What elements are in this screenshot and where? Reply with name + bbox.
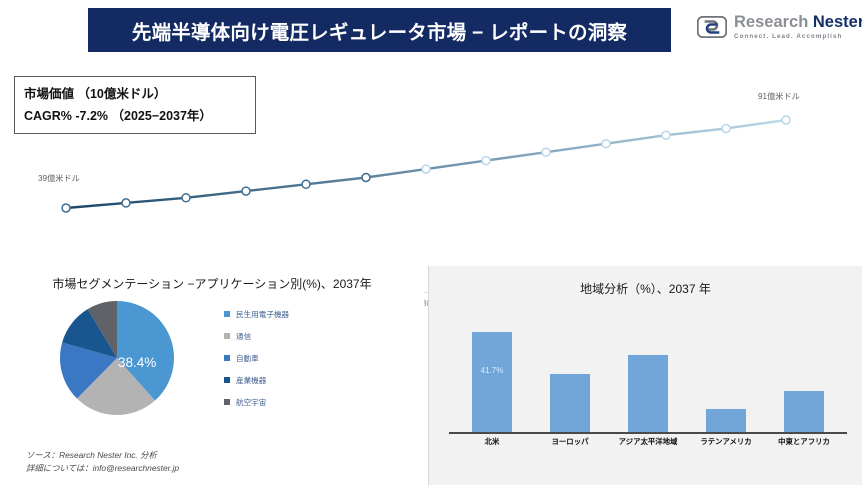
line-marker: [422, 165, 430, 173]
bar: 41.7%: [472, 332, 512, 432]
infographic-page: 先端半導体向け電圧レギュレータ市場 − レポートの洞察 Research Nes…: [0, 0, 862, 485]
line-marker: [62, 204, 70, 212]
market-value-line-chart: 39億米ドル 91億米ドル 2024年2025年2026年2027年2028年2…: [0, 60, 862, 260]
legend-label: 自動車: [236, 353, 259, 364]
region-label: 北米: [485, 436, 500, 447]
legend-label: 通信: [236, 331, 251, 342]
line-marker: [122, 199, 130, 207]
brand-logo: Research Nester Connect. Lead. Accomplis…: [697, 14, 862, 40]
line-end-value-label: 91億米ドル: [758, 90, 800, 102]
legend-item: 通信: [224, 325, 354, 347]
region-label: 中東とアフリカ: [778, 436, 830, 447]
region-label: アジア太平洋地域: [619, 436, 678, 447]
regional-analysis-panel: 地域分析（%）、2037 年 41.7% 北米ヨーロッパアジア太平洋地域ラテンア…: [428, 266, 862, 485]
legend-item: 航空宇宙: [224, 391, 354, 413]
bar: [550, 374, 590, 432]
bar: [784, 391, 824, 432]
line-marker: [482, 157, 490, 165]
logo-name: Research Nester: [734, 14, 862, 31]
pie-legend: 民生用電子機器通信自動車産業機器航空宇宙: [224, 303, 354, 413]
bar-column: 41.7%: [472, 332, 512, 432]
segmentation-title: 市場セグメンテーション −アプリケーション別(%)、2037年: [0, 266, 424, 293]
legend-label: 航空宇宙: [236, 397, 266, 408]
bar-column: [784, 391, 824, 432]
pie-chart-svg: [58, 299, 176, 417]
line-marker: [302, 180, 310, 188]
line-marker: [542, 148, 550, 156]
line-marker: [782, 116, 790, 124]
bar-column: [550, 374, 590, 432]
legend-swatch-icon: [224, 377, 230, 383]
line-marker: [662, 131, 670, 139]
header-banner: 先端半導体向け電圧レギュレータ市場 − レポートの洞察: [88, 8, 671, 52]
bar-data-label: 41.7%: [481, 366, 504, 375]
legend-item: 自動車: [224, 347, 354, 369]
line-chart-svg: [0, 60, 862, 260]
legend-swatch-icon: [224, 333, 230, 339]
bar-column: [628, 355, 668, 432]
line-start-value-label: 39億米ドル: [38, 172, 80, 184]
legend-swatch-icon: [224, 311, 230, 317]
source-footnote: ソース：Research Nester Inc. 分析 詳細については：info…: [26, 449, 179, 476]
page-title: 先端半導体向け電圧レギュレータ市場 − レポートの洞察: [132, 16, 627, 45]
logo-word-nester: Nester: [813, 13, 862, 31]
segmentation-panel: 市場セグメンテーション −アプリケーション別(%)、2037年 38.4% 民生…: [0, 266, 424, 485]
pie-data-label: 38.4%: [118, 355, 156, 370]
bar: [706, 409, 746, 432]
legend-swatch-icon: [224, 399, 230, 405]
contact-line: 詳細については：info@researchnester.jp: [26, 462, 179, 475]
legend-label: 産業機器: [236, 375, 266, 386]
line-marker: [362, 174, 370, 182]
legend-label: 民生用電子機器: [236, 309, 289, 320]
pie-area: 38.4% 民生用電子機器通信自動車産業機器航空宇宙: [0, 299, 424, 419]
bar-column: [706, 409, 746, 432]
regional-analysis-title: 地域分析（%）、2037 年: [429, 266, 862, 297]
region-x-axis: 北米ヨーロッパアジア太平洋地域ラテンアメリカ中東とアフリカ: [453, 436, 843, 452]
logo-mark-icon: [697, 16, 727, 38]
region-label: ラテンアメリカ: [700, 436, 751, 447]
bar-chart-baseline: [449, 432, 847, 434]
source-line: ソース：Research Nester Inc. 分析: [26, 449, 179, 462]
region-label: ヨーロッパ: [552, 436, 589, 447]
line-marker: [182, 194, 190, 202]
legend-swatch-icon: [224, 355, 230, 361]
logo-word-research: Research: [734, 13, 813, 31]
logo-tagline: Connect. Lead. Accomplish: [734, 34, 862, 40]
region-bars: 41.7%: [453, 312, 843, 432]
line-marker: [602, 140, 610, 148]
legend-item: 産業機器: [224, 369, 354, 391]
line-marker: [242, 187, 250, 195]
logo-text: Research Nester Connect. Lead. Accomplis…: [734, 14, 862, 40]
legend-item: 民生用電子機器: [224, 303, 354, 325]
bar: [628, 355, 668, 432]
line-marker: [722, 125, 730, 133]
